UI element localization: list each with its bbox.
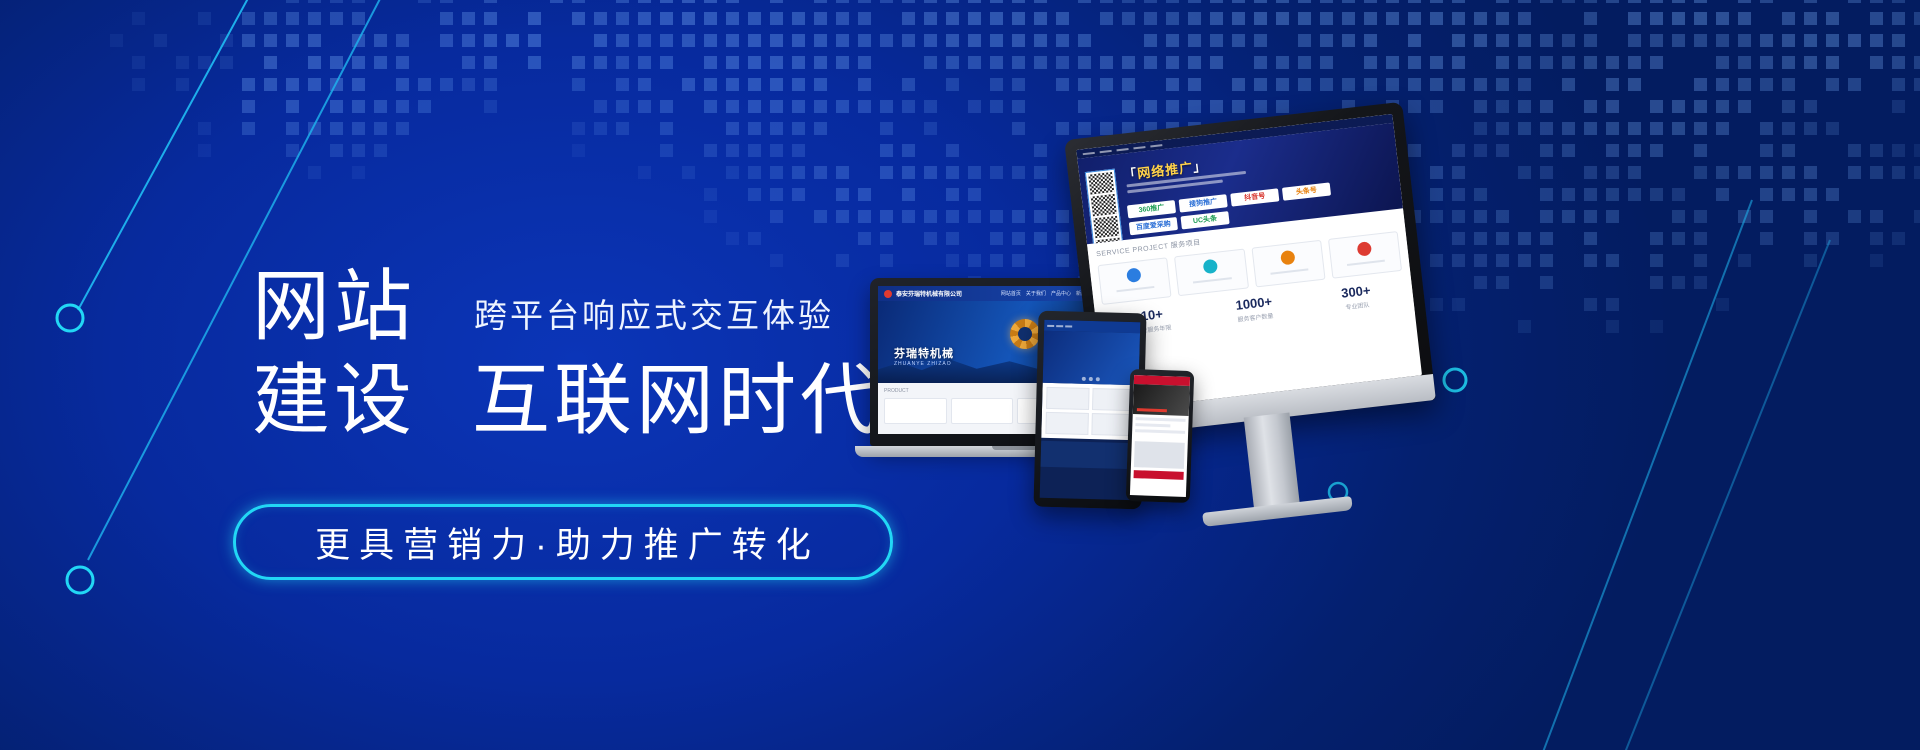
map-dot — [308, 166, 321, 179]
map-dot — [1298, 12, 1311, 25]
map-dot — [1606, 188, 1619, 201]
map-dot — [572, 12, 585, 25]
map-dot — [352, 100, 365, 113]
map-dot — [1034, 34, 1047, 47]
map-dot — [814, 12, 827, 25]
map-dot — [1584, 254, 1597, 267]
map-dot — [1298, 78, 1311, 91]
map-dot — [242, 122, 255, 135]
map-dot — [330, 144, 343, 157]
map-dot — [1430, 78, 1443, 91]
map-dot — [198, 144, 211, 157]
map-dot — [1914, 166, 1920, 179]
map-dot — [946, 56, 959, 69]
map-dot — [1232, 0, 1245, 3]
map-dot — [1276, 100, 1289, 113]
map-dot — [858, 232, 871, 245]
map-dot — [1804, 100, 1817, 113]
map-dot — [968, 34, 981, 47]
map-dot — [1496, 12, 1509, 25]
map-dot — [858, 56, 871, 69]
map-dot — [1914, 12, 1920, 25]
map-dot — [1782, 188, 1795, 201]
map-dot — [704, 188, 717, 201]
map-dot — [594, 122, 607, 135]
map-dot — [1364, 12, 1377, 25]
map-dot — [1078, 100, 1091, 113]
map-dot — [572, 0, 585, 3]
map-dot — [616, 122, 629, 135]
map-dot — [748, 166, 761, 179]
map-dot — [1584, 298, 1597, 311]
map-dot — [792, 78, 805, 91]
laptop-hero-title: 芬瑞特机械 — [894, 345, 954, 361]
map-dot — [1364, 0, 1377, 3]
slogan-text: 更具营销力·助力推广转化 — [306, 517, 820, 568]
map-dot — [1188, 34, 1201, 47]
phone-article-image — [1134, 441, 1185, 469]
map-dot — [1892, 78, 1905, 91]
map-dot — [770, 12, 783, 25]
map-dot — [1826, 34, 1839, 47]
map-dot — [1826, 56, 1839, 69]
map-dot — [748, 78, 761, 91]
map-dot — [1584, 122, 1597, 135]
headline-row-2: 建设 互联网时代 — [252, 356, 952, 444]
map-dot — [726, 0, 739, 3]
map-dot — [286, 122, 299, 135]
map-dot — [1584, 12, 1597, 25]
map-dot — [1012, 100, 1025, 113]
map-dot — [1100, 0, 1113, 3]
map-dot — [946, 78, 959, 91]
map-dot — [1474, 12, 1487, 25]
map-dot — [638, 100, 651, 113]
map-dot — [1430, 56, 1443, 69]
map-dot — [330, 122, 343, 135]
map-dot — [1892, 12, 1905, 25]
map-dot — [726, 34, 739, 47]
map-dot — [1540, 254, 1553, 267]
map-dot — [1628, 34, 1641, 47]
map-dot — [462, 78, 475, 91]
map-dot — [1386, 56, 1399, 69]
map-dot — [1782, 122, 1795, 135]
stat-item: 300+ 专业团队 — [1309, 279, 1404, 315]
map-dot — [1716, 34, 1729, 47]
map-dot — [770, 122, 783, 135]
map-dot — [1320, 12, 1333, 25]
map-dot — [1320, 78, 1333, 91]
map-dot — [242, 12, 255, 25]
headline-block: 网站 跨平台响应式交互体验 建设 互联网时代 — [252, 262, 952, 444]
map-dot — [748, 144, 761, 157]
map-dot — [1606, 56, 1619, 69]
map-dot — [1122, 56, 1135, 69]
page-title-line1: 网站 — [252, 262, 416, 350]
imac-stand-neck — [1244, 412, 1301, 513]
map-dot — [682, 34, 695, 47]
map-dot — [1760, 210, 1773, 223]
map-dot — [968, 0, 981, 3]
map-dot — [286, 12, 299, 25]
map-dot — [1760, 122, 1773, 135]
map-dot — [1540, 0, 1553, 3]
map-dot — [1848, 210, 1861, 223]
map-dot — [990, 0, 1003, 3]
carousel-dot — [1089, 377, 1093, 381]
company-logo-icon — [884, 290, 892, 298]
map-dot — [1584, 0, 1597, 3]
map-dot — [792, 12, 805, 25]
map-dot — [1540, 232, 1553, 245]
map-dot — [1540, 144, 1553, 157]
map-dot — [792, 100, 805, 113]
map-dot — [726, 12, 739, 25]
map-dot — [506, 34, 519, 47]
map-dot — [1320, 34, 1333, 47]
map-dot — [1870, 12, 1883, 25]
map-dot — [1078, 56, 1091, 69]
map-dot — [198, 122, 211, 135]
map-dot — [1628, 166, 1641, 179]
map-dot — [110, 34, 123, 47]
map-dot — [396, 78, 409, 91]
map-dot — [462, 34, 475, 47]
stat-item: 1000+ 服务客户数量 — [1207, 291, 1302, 327]
topbar-link — [1100, 149, 1112, 152]
map-dot — [1100, 12, 1113, 25]
service-card — [1251, 240, 1325, 288]
topbar-link — [1133, 146, 1145, 149]
map-dot — [946, 0, 959, 3]
map-dot — [1804, 232, 1817, 245]
map-dot — [1540, 188, 1553, 201]
map-dot — [1628, 144, 1641, 157]
map-dot — [1650, 0, 1663, 3]
map-dot — [1166, 34, 1179, 47]
map-dot — [418, 100, 431, 113]
map-dot — [1496, 78, 1509, 91]
map-dot — [1518, 232, 1531, 245]
map-dot — [1760, 0, 1773, 3]
map-dot — [1914, 78, 1920, 91]
map-dot — [704, 0, 717, 3]
map-dot — [1276, 0, 1289, 3]
map-dot — [1782, 34, 1795, 47]
menu-item: 产品中心 — [1051, 290, 1071, 297]
map-dot — [1408, 56, 1421, 69]
map-dot — [1650, 232, 1663, 245]
map-dot — [198, 12, 211, 25]
map-dot — [1012, 34, 1025, 47]
map-dot — [1122, 100, 1135, 113]
map-dot — [1144, 100, 1157, 113]
carousel-dot — [1082, 377, 1086, 381]
map-dot — [484, 12, 497, 25]
map-dot — [154, 34, 167, 47]
map-dot — [396, 34, 409, 47]
map-dot — [1034, 0, 1047, 3]
map-dot — [1518, 78, 1531, 91]
map-dot — [704, 144, 717, 157]
map-dot — [1628, 12, 1641, 25]
map-dot — [1210, 0, 1223, 3]
map-dot — [1650, 188, 1663, 201]
map-dot — [1254, 100, 1267, 113]
map-dot — [638, 56, 651, 69]
map-dot — [836, 100, 849, 113]
map-dot — [704, 34, 717, 47]
map-dot — [1738, 78, 1751, 91]
map-dot — [1804, 210, 1817, 223]
map-dot — [264, 34, 277, 47]
map-dot — [1188, 78, 1201, 91]
map-dot — [924, 100, 937, 113]
map-dot — [924, 0, 937, 3]
map-dot — [132, 78, 145, 91]
map-dot — [682, 166, 695, 179]
map-dot — [176, 78, 189, 91]
map-dot — [1452, 12, 1465, 25]
map-dot — [814, 78, 827, 91]
map-dot — [1276, 12, 1289, 25]
map-dot — [396, 56, 409, 69]
phone-news-list — [1132, 414, 1189, 440]
service-card — [1328, 231, 1402, 279]
map-dot — [770, 0, 783, 3]
phone-screen — [1130, 375, 1190, 497]
map-dot — [1672, 276, 1685, 289]
map-dot — [484, 56, 497, 69]
map-dot — [1496, 0, 1509, 3]
map-dot — [858, 100, 871, 113]
map-dot — [1738, 166, 1751, 179]
map-dot — [1804, 34, 1817, 47]
product-tile — [1046, 387, 1089, 410]
map-dot — [1100, 56, 1113, 69]
map-dot — [638, 12, 651, 25]
map-dot — [1518, 34, 1531, 47]
tablet-screen — [1040, 320, 1141, 500]
platform-badge: UC头条 — [1180, 211, 1229, 229]
map-dot — [902, 78, 915, 91]
map-dot — [726, 144, 739, 157]
map-dot — [1628, 188, 1641, 201]
map-dot — [990, 34, 1003, 47]
map-dot — [1034, 56, 1047, 69]
map-dot — [1474, 78, 1487, 91]
map-dot — [1144, 56, 1157, 69]
qr-code-icon — [1088, 172, 1114, 195]
map-dot — [1760, 144, 1773, 157]
map-dot — [704, 12, 717, 25]
phone-cta-bar — [1134, 470, 1184, 480]
map-dot — [1562, 0, 1575, 3]
map-dot — [770, 56, 783, 69]
map-dot — [770, 210, 783, 223]
map-dot — [968, 100, 981, 113]
map-dot — [1408, 0, 1421, 3]
map-dot — [1584, 232, 1597, 245]
map-dot — [1914, 144, 1920, 157]
map-dot — [902, 12, 915, 25]
map-dot — [1078, 78, 1091, 91]
map-dot — [1672, 188, 1685, 201]
map-dot — [1716, 78, 1729, 91]
map-dot — [1584, 56, 1597, 69]
map-dot — [1122, 12, 1135, 25]
map-dot — [242, 78, 255, 91]
map-dot — [1870, 210, 1883, 223]
map-dot — [814, 34, 827, 47]
platform-badge: 头条号 — [1282, 182, 1331, 200]
nav-link — [1056, 325, 1063, 327]
map-dot — [1694, 122, 1707, 135]
map-dot — [792, 166, 805, 179]
map-dot — [484, 100, 497, 113]
map-dot — [1078, 34, 1091, 47]
map-dot — [308, 34, 321, 47]
map-dot — [638, 34, 651, 47]
ring-node-bottom-left — [67, 567, 93, 593]
map-dot — [1540, 122, 1553, 135]
topbar-link — [1116, 147, 1128, 150]
map-dot — [1562, 210, 1575, 223]
map-dot — [836, 56, 849, 69]
map-dot — [1210, 12, 1223, 25]
map-dot — [1100, 78, 1113, 91]
map-dot — [1584, 210, 1597, 223]
map-dot — [1628, 56, 1641, 69]
map-dot — [352, 144, 365, 157]
map-dot — [1188, 0, 1201, 3]
map-dot — [484, 0, 497, 3]
map-dot — [638, 166, 651, 179]
map-dot — [1298, 34, 1311, 47]
map-dot — [1144, 0, 1157, 3]
map-dot — [1364, 34, 1377, 47]
map-dot — [858, 210, 871, 223]
map-dot — [770, 78, 783, 91]
map-dot — [1496, 56, 1509, 69]
map-dot — [1430, 0, 1443, 3]
device-mockup-group: 泰安芬瑞特机械有限公司 网站首页 关于我们 产品中心 新闻资讯 客户案例 公司简… — [880, 120, 1500, 640]
map-dot — [1804, 56, 1817, 69]
topbar-link — [1083, 151, 1095, 154]
map-dot — [1694, 78, 1707, 91]
map-dot — [308, 122, 321, 135]
map-dot — [572, 78, 585, 91]
map-dot — [308, 0, 321, 3]
map-dot — [1870, 144, 1883, 157]
map-dot — [1694, 144, 1707, 157]
map-dot — [352, 166, 365, 179]
map-dot — [1650, 100, 1663, 113]
map-dot — [1430, 12, 1443, 25]
map-dot — [1672, 34, 1685, 47]
map-dot — [1694, 210, 1707, 223]
map-dot — [660, 122, 673, 135]
map-dot — [1584, 166, 1597, 179]
map-dot — [1760, 232, 1773, 245]
map-dot — [286, 144, 299, 157]
nav-link — [1047, 324, 1054, 326]
map-dot — [1452, 0, 1465, 3]
map-dot — [1496, 100, 1509, 113]
map-dot — [1078, 0, 1091, 3]
map-dot — [1782, 144, 1795, 157]
map-dot — [682, 0, 695, 3]
map-dot — [1254, 34, 1267, 47]
map-dot — [1870, 232, 1883, 245]
map-dot — [1166, 78, 1179, 91]
map-dot — [1056, 78, 1069, 91]
map-dot — [616, 0, 629, 3]
map-dot — [946, 12, 959, 25]
headline-row-1: 网站 跨平台响应式交互体验 — [252, 262, 952, 350]
map-dot — [330, 12, 343, 25]
map-dot — [836, 12, 849, 25]
map-dot — [1254, 0, 1267, 3]
map-dot — [1672, 12, 1685, 25]
map-dot — [1518, 122, 1531, 135]
map-dot — [1782, 166, 1795, 179]
map-dot — [352, 78, 365, 91]
menu-item: 关于我们 — [1026, 290, 1046, 297]
diagonal-line-4 — [1614, 240, 1830, 750]
map-dot — [132, 56, 145, 69]
map-dot — [814, 0, 827, 3]
map-dot — [1584, 34, 1597, 47]
map-dot — [1540, 56, 1553, 69]
ring-node-top-left — [57, 305, 83, 331]
map-dot — [1210, 56, 1223, 69]
news-line — [1135, 429, 1185, 434]
map-dot — [1056, 56, 1069, 69]
map-dot — [572, 144, 585, 157]
map-dot — [396, 122, 409, 135]
map-dot — [748, 188, 761, 201]
map-dot — [1254, 78, 1267, 91]
map-dot — [484, 78, 497, 91]
map-dot — [1518, 12, 1531, 25]
map-dot — [660, 34, 673, 47]
map-dot — [594, 34, 607, 47]
map-dot — [1848, 166, 1861, 179]
map-dot — [440, 0, 453, 3]
map-dot — [1738, 34, 1751, 47]
map-dot — [1232, 78, 1245, 91]
nav-link — [1065, 325, 1072, 327]
map-dot — [1584, 188, 1597, 201]
map-dot — [352, 34, 365, 47]
map-dot — [374, 56, 387, 69]
map-dot — [660, 56, 673, 69]
map-dot — [1408, 12, 1421, 25]
map-dot — [264, 78, 277, 91]
map-dot — [1694, 0, 1707, 3]
map-dot — [1606, 122, 1619, 135]
slogan-badge: 更具营销力·助力推广转化 — [233, 504, 893, 580]
map-dot — [242, 34, 255, 47]
map-dot — [1540, 100, 1553, 113]
map-dot — [220, 56, 233, 69]
map-dot — [1694, 254, 1707, 267]
map-dot — [1298, 56, 1311, 69]
map-dot — [748, 100, 761, 113]
map-dot — [726, 100, 739, 113]
